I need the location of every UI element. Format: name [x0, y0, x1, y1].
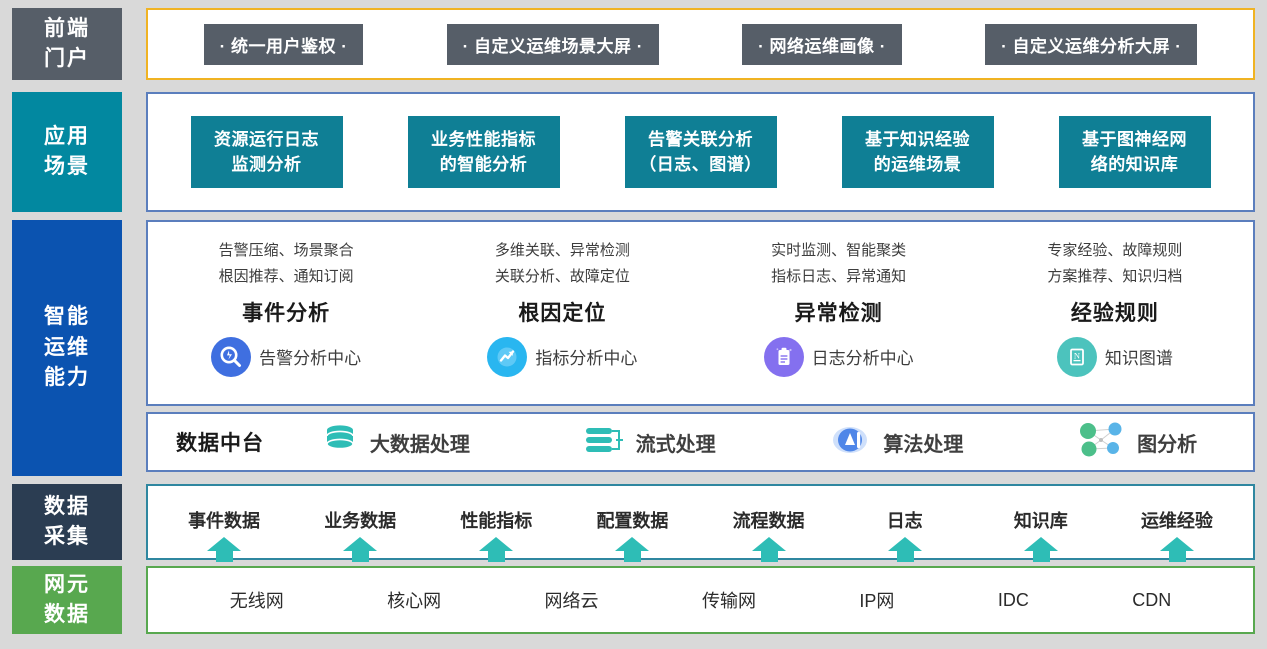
collection-item-label: 流程数据: [733, 507, 805, 533]
log-clipboard-icon: [764, 337, 804, 377]
platform-item-label: 流式处理: [636, 428, 716, 457]
capability-product[interactable]: 指标分析中心: [487, 337, 637, 377]
capability-title: 根因定位: [518, 297, 606, 327]
platform-item-big-data[interactable]: 大数据处理: [320, 423, 470, 462]
network-element-item-transport[interactable]: 传输网: [702, 587, 756, 613]
network-element-panel: 无线网 核心网 网络云 传输网 IP网 IDC CDN: [146, 566, 1255, 634]
network-element-item-network-cloud[interactable]: 网络云: [545, 587, 599, 613]
capability-feature-line-2: 根因推荐、通知订阅: [219, 264, 354, 290]
network-element-item-wireless[interactable]: 无线网: [230, 587, 284, 613]
row-label-line-2: 采集: [44, 522, 90, 552]
app-card-line-2: 监测分析: [232, 152, 302, 178]
capability-column-root-cause: 多维关联、异常检测 关联分析、故障定位 根因定位 指标分析中心: [424, 222, 700, 404]
row-label-line-2: 场景: [44, 152, 90, 182]
capability-feature-line-1: 告警压缩、场景聚合: [219, 238, 354, 264]
aiops-stack: 告警压缩、场景聚合 根因推荐、通知订阅 事件分析 告警分析中心: [146, 220, 1255, 476]
data-middle-platform-title: 数据中台: [176, 427, 264, 457]
collection-item-label: 业务数据: [324, 507, 396, 533]
graph-network-icon: [1075, 420, 1127, 465]
collection-item-config-data[interactable]: 配置数据: [564, 486, 700, 558]
platform-item-stream[interactable]: 流式处理: [582, 423, 716, 462]
data-collection-panel: 事件数据 业务数据 性能指标 配置数据 流程数据 日志: [146, 484, 1255, 560]
data-middle-platform-panel: 数据中台 大数据处理: [146, 412, 1255, 472]
app-card-alarm-correlation[interactable]: 告警关联分析 （日志、图谱）: [625, 116, 777, 188]
capability-feature-line-1: 实时监测、智能聚类: [771, 238, 906, 264]
app-card-line-1: 告警关联分析: [648, 127, 753, 153]
collection-item-label: 日志: [887, 507, 923, 533]
row-label-network-element-data: 网元 数据: [12, 566, 122, 634]
portal-chip-custom-analysis-dashboard[interactable]: · 自定义运维分析大屏 ·: [985, 24, 1197, 65]
collection-item-label: 运维经验: [1141, 507, 1213, 533]
app-card-line-1: 业务性能指标: [431, 127, 536, 153]
capability-product-label: 知识图谱: [1105, 344, 1173, 369]
app-card-line-2: 的智能分析: [440, 152, 528, 178]
collection-item-label: 知识库: [1014, 507, 1068, 533]
row-label-application-scenarios: 应用 场景: [12, 92, 122, 212]
app-card-knowledge-experience[interactable]: 基于知识经验 的运维场景: [842, 116, 994, 188]
capability-feature-line-2: 指标日志、异常通知: [771, 264, 906, 290]
collection-item-performance-kpi[interactable]: 性能指标: [428, 486, 564, 558]
knowledge-doc-icon: N: [1057, 337, 1097, 377]
collection-item-knowledge-base[interactable]: 知识库: [973, 486, 1109, 558]
database-icon: [320, 423, 360, 462]
capability-product[interactable]: 日志分析中心: [764, 337, 914, 377]
app-card-line-2: 络的知识库: [1091, 152, 1179, 178]
architecture-diagram: 前端 门户 · 统一用户鉴权 · · 自定义运维场景大屏 · · 网络运维画像 …: [0, 0, 1267, 649]
portal-chip-custom-ops-dashboard[interactable]: · 自定义运维场景大屏 ·: [447, 24, 659, 65]
collection-item-log[interactable]: 日志: [837, 486, 973, 558]
row-application-scenarios: 应用 场景 资源运行日志 监测分析 业务性能指标 的智能分析 告警关联分析 （日…: [12, 92, 1255, 212]
data-middle-platform-items: 大数据处理 流式处理: [264, 420, 1253, 465]
capability-title: 经验规则: [1071, 297, 1159, 327]
app-card-business-kpi[interactable]: 业务性能指标 的智能分析: [408, 116, 560, 188]
app-card-resource-log[interactable]: 资源运行日志 监测分析: [191, 116, 343, 188]
capability-feature-line-1: 多维关联、异常检测: [495, 238, 630, 264]
row-frontend-portal: 前端 门户 · 统一用户鉴权 · · 自定义运维场景大屏 · · 网络运维画像 …: [12, 8, 1255, 80]
capability-panel: 告警压缩、场景聚合 根因推荐、通知订阅 事件分析 告警分析中心: [146, 220, 1255, 406]
capability-product[interactable]: N 知识图谱: [1057, 337, 1173, 377]
row-label-data-collection: 数据 采集: [12, 484, 122, 560]
row-label-frontend-portal: 前端 门户: [12, 8, 122, 80]
capability-product-label: 指标分析中心: [535, 344, 637, 369]
row-label-line-1: 数据: [44, 492, 90, 522]
app-card-line-1: 基于图神经网: [1082, 127, 1187, 153]
capability-feature-line-2: 关联分析、故障定位: [495, 264, 630, 290]
capability-product-label: 告警分析中心: [259, 344, 361, 369]
collection-item-event-data[interactable]: 事件数据: [156, 486, 292, 558]
row-label-line-1: 应用: [44, 122, 90, 152]
capability-feature-lines: 多维关联、异常检测 关联分析、故障定位: [495, 238, 630, 291]
row-label-line-2: 运维: [44, 333, 90, 363]
app-card-graph-neural-network[interactable]: 基于图神经网 络的知识库: [1059, 116, 1211, 188]
row-label-line-1: 网元: [44, 570, 90, 600]
network-element-item-core[interactable]: 核心网: [387, 587, 441, 613]
row-label-line-1: 智能: [44, 302, 90, 332]
collection-item-label: 配置数据: [596, 507, 668, 533]
capability-feature-lines: 实时监测、智能聚类 指标日志、异常通知: [771, 238, 906, 291]
collection-item-label: 事件数据: [188, 507, 260, 533]
capability-title: 事件分析: [242, 297, 330, 327]
portal-panel: · 统一用户鉴权 · · 自定义运维场景大屏 · · 网络运维画像 · · 自定…: [146, 8, 1255, 80]
app-card-line-2: 的运维场景: [874, 152, 962, 178]
row-label-line-1: 前端: [44, 14, 90, 44]
capability-product[interactable]: 告警分析中心: [211, 337, 361, 377]
row-data-collection: 数据 采集 事件数据 业务数据 性能指标 配置数据 流程数据: [12, 484, 1255, 560]
row-label-line-3: 能力: [44, 363, 90, 393]
platform-item-label: 算法处理: [883, 428, 963, 457]
capability-title: 异常检测: [795, 297, 883, 327]
platform-item-graph-analysis[interactable]: 图分析: [1075, 420, 1197, 465]
platform-item-label: 大数据处理: [370, 428, 470, 457]
network-element-item-ip[interactable]: IP网: [859, 587, 894, 613]
network-element-item-idc[interactable]: IDC: [998, 590, 1029, 611]
app-card-line-1: 基于知识经验: [865, 127, 970, 153]
ai-icon: [827, 423, 873, 462]
row-label-line-2: 数据: [44, 600, 90, 630]
application-panel: 资源运行日志 监测分析 业务性能指标 的智能分析 告警关联分析 （日志、图谱） …: [146, 92, 1255, 212]
row-network-element-data: 网元 数据 无线网 核心网 网络云 传输网 IP网 IDC CDN: [12, 566, 1255, 634]
row-aiops-capability: 智能 运维 能力 告警压缩、场景聚合 根因推荐、通知订阅 事件分析: [12, 220, 1255, 476]
capability-feature-line-1: 专家经验、故障规则: [1047, 238, 1182, 264]
collection-item-business-data[interactable]: 业务数据: [292, 486, 428, 558]
svg-text:N: N: [1074, 350, 1080, 360]
network-element-item-cdn[interactable]: CDN: [1132, 590, 1171, 611]
capability-feature-lines: 专家经验、故障规则 方案推荐、知识归档: [1047, 238, 1182, 291]
capability-column-anomaly-detection: 实时监测、智能聚类 指标日志、异常通知 异常检测: [701, 222, 977, 404]
capability-column-experience-rules: 专家经验、故障规则 方案推荐、知识归档 经验规则 N 知识图谱: [977, 222, 1253, 404]
platform-item-label: 图分析: [1137, 428, 1197, 457]
alert-search-icon: [211, 337, 251, 377]
app-card-line-2: （日志、图谱）: [639, 152, 762, 178]
collection-item-ops-experience[interactable]: 运维经验: [1109, 486, 1245, 558]
capability-column-event-analysis: 告警压缩、场景聚合 根因推荐、通知订阅 事件分析 告警分析中心: [148, 222, 424, 404]
row-label-aiops-capability: 智能 运维 能力: [12, 220, 122, 476]
stream-icon: [582, 423, 626, 462]
collection-item-label: 性能指标: [460, 507, 532, 533]
capability-feature-line-2: 方案推荐、知识归档: [1047, 264, 1182, 290]
metric-trend-icon: [487, 337, 527, 377]
capability-feature-lines: 告警压缩、场景聚合 根因推荐、通知订阅: [219, 238, 354, 291]
portal-chip-network-ops-profile[interactable]: · 网络运维画像 ·: [742, 24, 902, 65]
capability-product-label: 日志分析中心: [812, 344, 914, 369]
collection-item-process-data[interactable]: 流程数据: [701, 486, 837, 558]
platform-item-algorithm[interactable]: 算法处理: [827, 423, 963, 462]
app-card-line-1: 资源运行日志: [214, 127, 319, 153]
row-label-line-2: 门户: [44, 44, 90, 74]
portal-chip-unified-auth[interactable]: · 统一用户鉴权 ·: [204, 24, 364, 65]
